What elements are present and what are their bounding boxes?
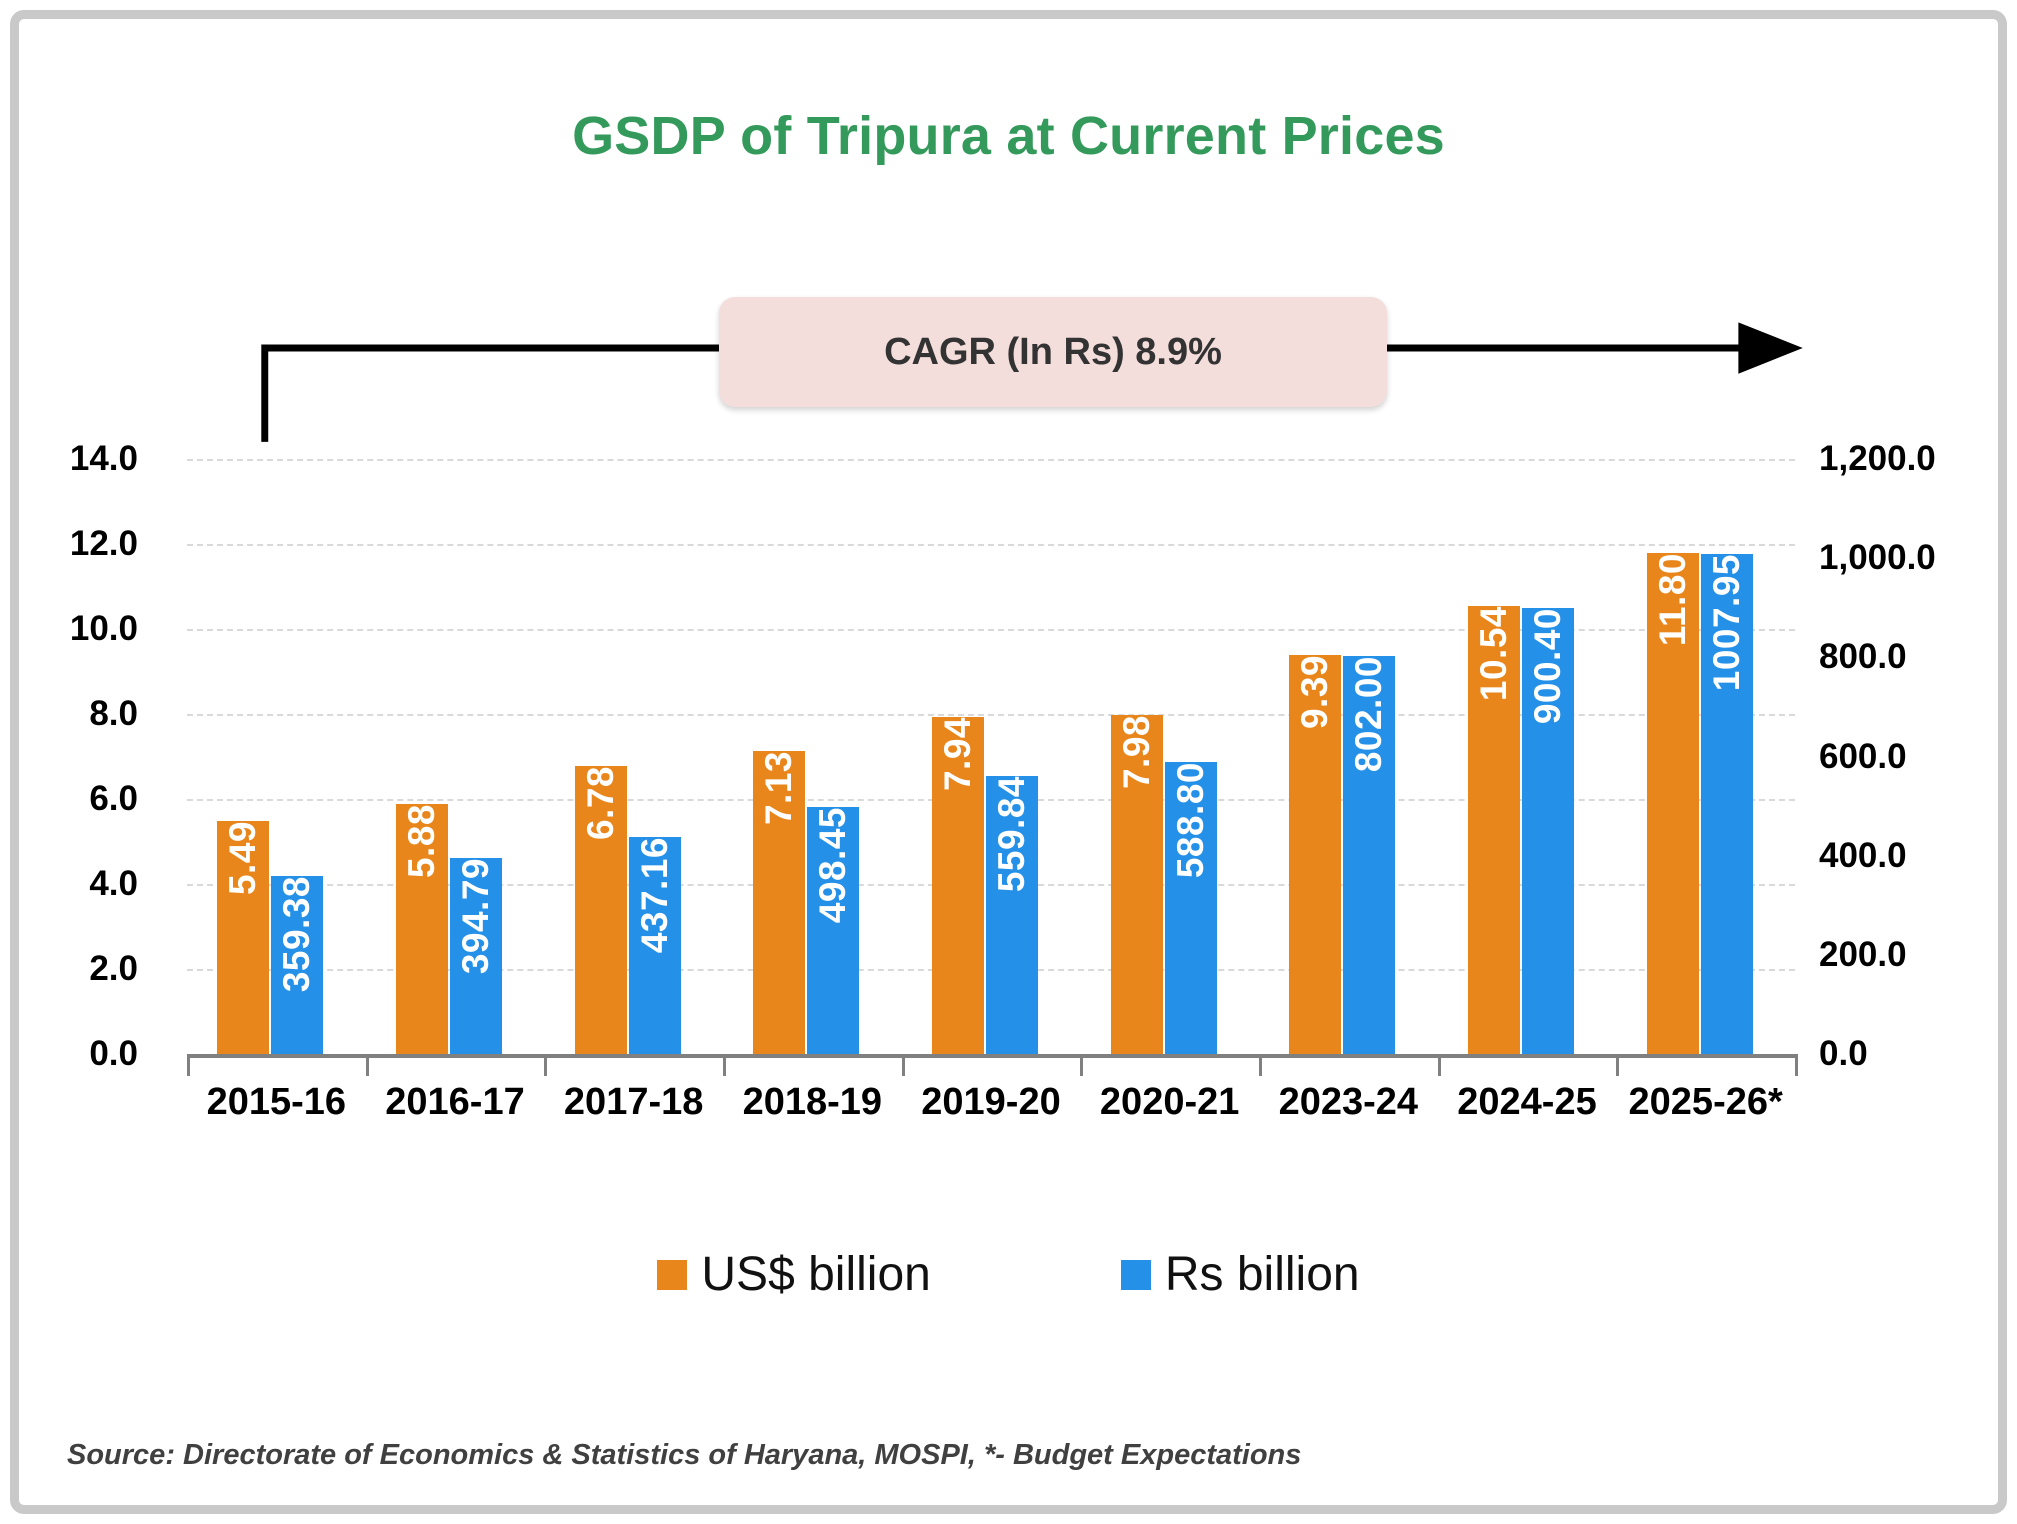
bar-value-label: 1007.95 — [1701, 554, 1753, 701]
x-axis-tick — [1438, 1054, 1441, 1076]
x-axis-tick — [366, 1054, 369, 1076]
bar-value-label: 5.88 — [396, 804, 448, 888]
bar-rs[interactable]: 1007.95 — [1701, 554, 1753, 1054]
bar-usd[interactable]: 10.54 — [1468, 606, 1520, 1054]
y-axis-right-tick-label: 800.0 — [1819, 637, 1998, 677]
legend-swatch-icon — [657, 1260, 687, 1290]
bar-group: 11.801007.95 — [1647, 459, 1753, 1054]
x-axis-tick — [902, 1054, 905, 1076]
bar-group: 7.13498.45 — [753, 459, 859, 1054]
source-note: Source: Directorate of Economics & Stati… — [67, 1439, 1301, 1472]
bar-value-label: 359.38 — [271, 876, 323, 1002]
bar-group: 6.78437.16 — [575, 459, 681, 1054]
bar-value-label: 7.13 — [753, 751, 805, 835]
bar-group: 5.88394.79 — [396, 459, 502, 1054]
chart-legend: US$ billionRs billion — [19, 1247, 1998, 1302]
x-axis-tick — [1259, 1054, 1262, 1076]
bar-value-label: 10.54 — [1468, 606, 1520, 711]
bar-rs[interactable]: 900.40 — [1522, 608, 1574, 1054]
y-axis-right-tick-label: 1,200.0 — [1819, 439, 1998, 479]
bar-usd[interactable]: 7.98 — [1111, 715, 1163, 1054]
bar-usd[interactable]: 7.13 — [753, 751, 805, 1054]
y-axis-right-tick-label: 200.0 — [1819, 935, 1998, 975]
bar-group: 9.39802.00 — [1289, 459, 1395, 1054]
legend-label: Rs billion — [1165, 1247, 1360, 1302]
x-axis-tick — [544, 1054, 547, 1076]
x-axis-category-label: 2025-26* — [1591, 1081, 1821, 1124]
bar-value-label: 7.98 — [1111, 715, 1163, 799]
bar-usd[interactable]: 11.80 — [1647, 553, 1699, 1055]
bar-value-label: 802.00 — [1343, 656, 1395, 782]
bar-rs[interactable]: 588.80 — [1165, 762, 1217, 1054]
legend-item[interactable]: US$ billion — [657, 1247, 930, 1302]
bar-rs[interactable]: 437.16 — [629, 837, 681, 1054]
y-axis-right-tick-label: 1,000.0 — [1819, 538, 1998, 578]
bar-value-label: 9.39 — [1289, 655, 1341, 739]
bar-group: 10.54900.40 — [1468, 459, 1574, 1054]
y-axis-right-tick-label: 400.0 — [1819, 836, 1998, 876]
y-axis-right-tick-label: 0.0 — [1819, 1034, 1998, 1074]
chart-canvas: GSDP of Tripura at Current Prices CAGR (… — [19, 19, 1998, 1505]
legend-item[interactable]: Rs billion — [1121, 1247, 1360, 1302]
x-axis-tick — [1795, 1054, 1798, 1076]
legend-label: US$ billion — [701, 1247, 930, 1302]
bar-rs[interactable]: 394.79 — [450, 858, 502, 1054]
y-axis-left-tick-label: 10.0 — [19, 609, 138, 649]
bar-value-label: 437.16 — [629, 837, 681, 963]
bar-value-label: 11.80 — [1647, 553, 1699, 656]
chart-title: GSDP of Tripura at Current Prices — [19, 105, 1998, 167]
y-axis-left-tick-label: 4.0 — [19, 864, 138, 904]
bar-usd[interactable]: 5.49 — [217, 821, 269, 1054]
x-axis-tick — [187, 1054, 190, 1076]
y-axis-left-tick-label: 14.0 — [19, 439, 138, 479]
bar-value-label: 900.40 — [1522, 608, 1574, 734]
cagr-callout: CAGR (In Rs) 8.9% — [719, 297, 1387, 407]
x-axis-tick — [1080, 1054, 1083, 1076]
bar-value-label: 559.84 — [986, 776, 1038, 902]
y-axis-left-tick-label: 12.0 — [19, 524, 138, 564]
y-axis-left-tick-label: 8.0 — [19, 694, 138, 734]
bar-value-label: 498.45 — [807, 807, 859, 933]
bar-group: 5.49359.38 — [217, 459, 323, 1054]
bar-rs[interactable]: 498.45 — [807, 807, 859, 1054]
cagr-label: CAGR (In Rs) 8.9% — [884, 331, 1222, 374]
y-axis-right-tick-label: 600.0 — [1819, 737, 1998, 777]
bar-rs[interactable]: 559.84 — [986, 776, 1038, 1054]
bar-rs[interactable]: 802.00 — [1343, 656, 1395, 1054]
chart-frame: GSDP of Tripura at Current Prices CAGR (… — [10, 10, 2007, 1514]
bar-value-label: 7.94 — [932, 717, 984, 801]
plot-area: 5.49359.385.88394.796.78437.167.13498.45… — [187, 459, 1795, 1054]
bar-value-label: 6.78 — [575, 766, 627, 850]
legend-swatch-icon — [1121, 1260, 1151, 1290]
x-axis-tick — [1616, 1054, 1619, 1076]
y-axis-left-tick-label: 2.0 — [19, 949, 138, 989]
y-axis-left-tick-label: 0.0 — [19, 1034, 138, 1074]
bar-value-label: 5.49 — [217, 821, 269, 905]
x-axis-line — [187, 1054, 1795, 1058]
bar-usd[interactable]: 6.78 — [575, 766, 627, 1054]
bar-usd[interactable]: 5.88 — [396, 804, 448, 1054]
bar-group: 7.98588.80 — [1111, 459, 1217, 1054]
bar-rs[interactable]: 359.38 — [271, 876, 323, 1054]
y-axis-left-tick-label: 6.0 — [19, 779, 138, 819]
bar-group: 7.94559.84 — [932, 459, 1038, 1054]
x-axis-tick — [723, 1054, 726, 1076]
bar-value-label: 588.80 — [1165, 762, 1217, 888]
bar-usd[interactable]: 9.39 — [1289, 655, 1341, 1054]
bar-usd[interactable]: 7.94 — [932, 717, 984, 1054]
bar-value-label: 394.79 — [450, 858, 502, 984]
